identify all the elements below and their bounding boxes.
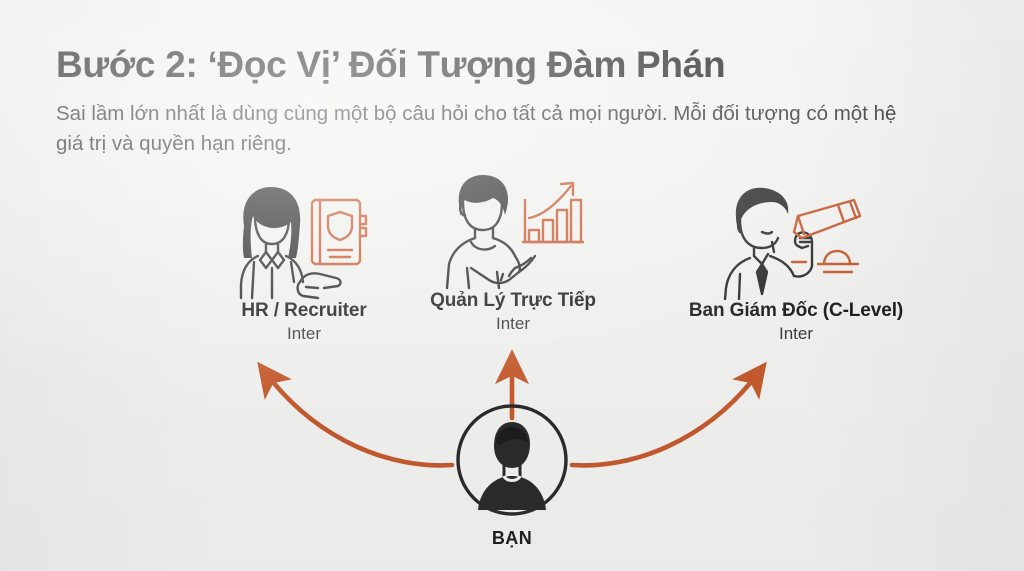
node-label-you: BẠN [412,528,612,549]
node-label-direct-manager: Quản Lý Trực Tiếp [363,290,663,312]
node-executive-c-level[interactable]: Ban Giám Đốc (C-Level) Inter [646,182,946,344]
node-label-executive-c-level: Ban Giám Đốc (C-Level) [646,300,946,322]
relationship-diagram: HR / Recruiter Inter [0,0,1024,571]
node-you[interactable]: BẠN [412,402,612,549]
node-sublabel-direct-manager: Inter [363,314,663,334]
slide-root: Bước 2: ‘Đọc Vị’ Đối Tượng Đàm Phán Sai … [0,0,1024,571]
node-sublabel-executive-c-level: Inter [646,324,946,344]
manager-pointing-growth-chart-icon [423,172,603,290]
executive-with-telescope-icon [706,182,886,300]
person-avatar-circle-icon [454,402,570,518]
node-direct-manager[interactable]: Quản Lý Trực Tiếp Inter [363,172,663,334]
